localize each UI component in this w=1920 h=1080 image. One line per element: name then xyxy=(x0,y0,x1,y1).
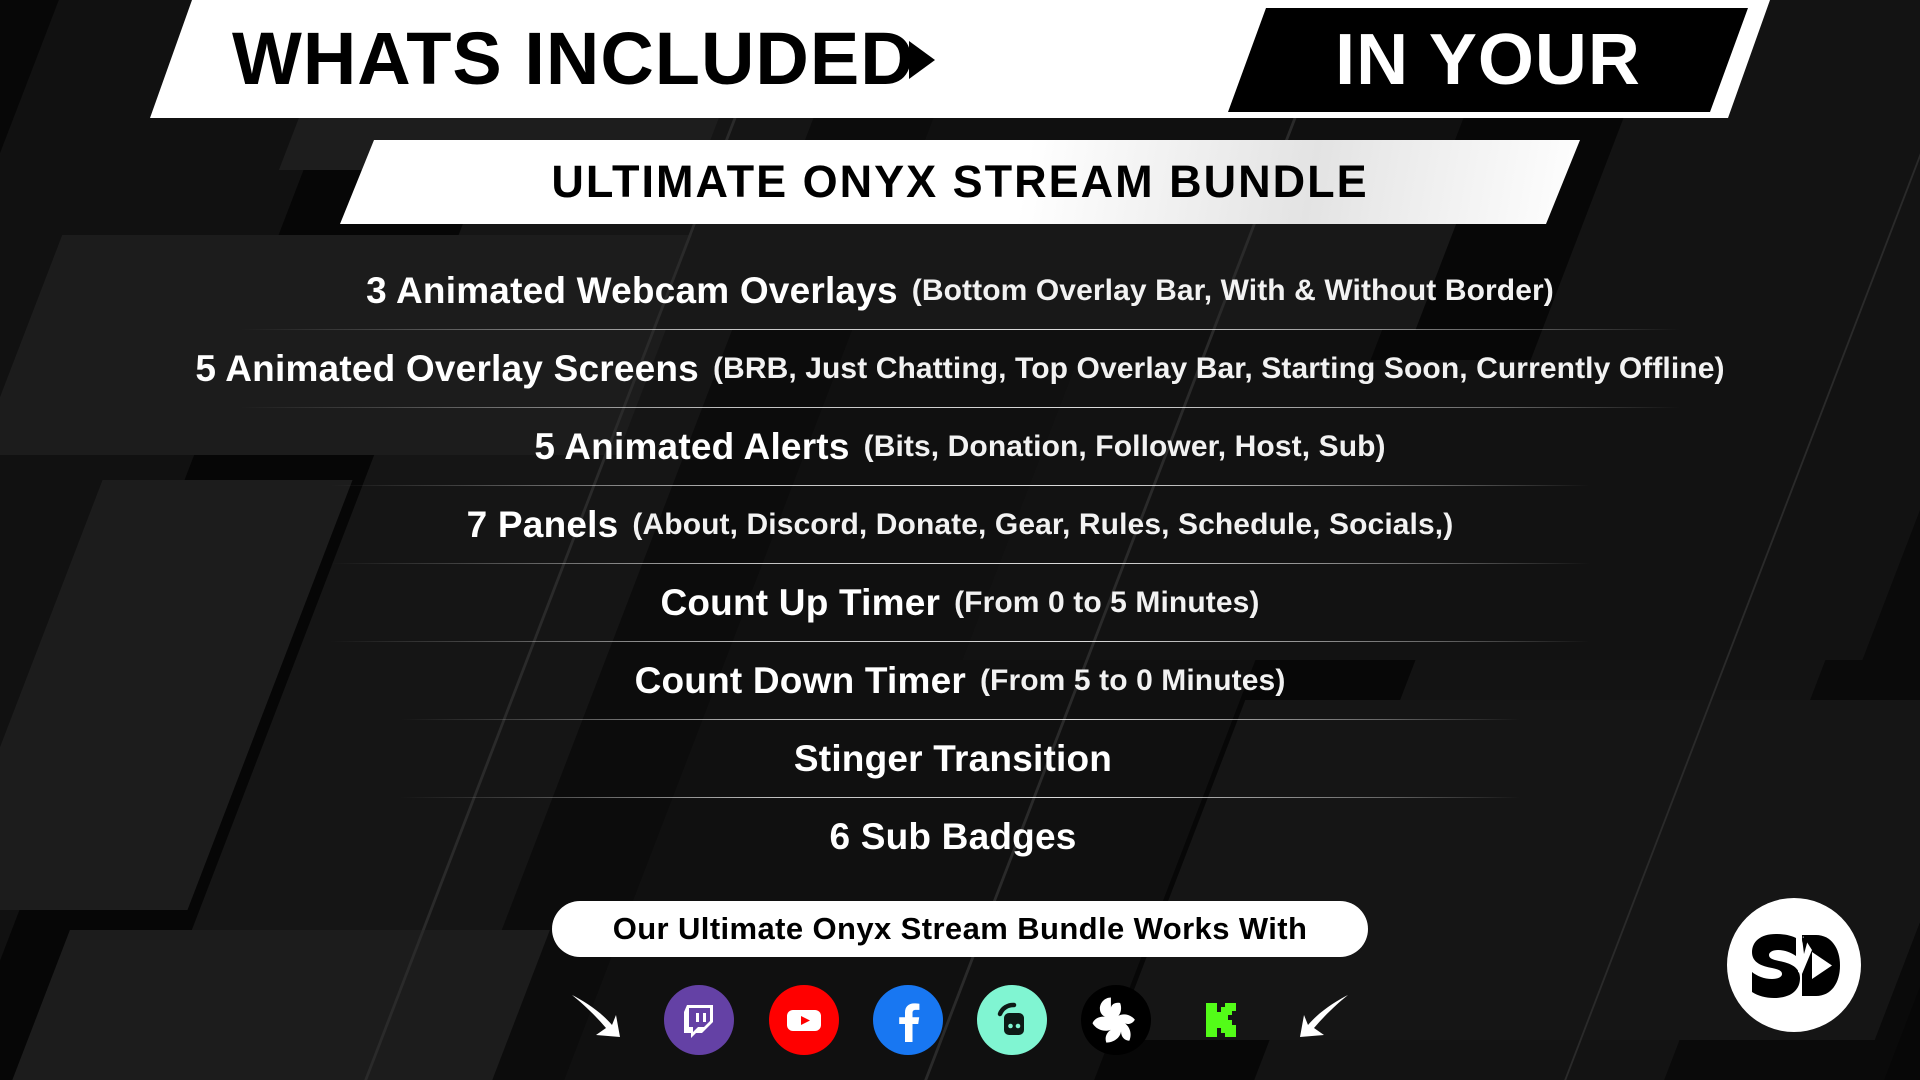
youtube-icon[interactable] xyxy=(769,985,839,1055)
list-item: Count Up Timer (From 0 to 5 Minutes) xyxy=(0,564,1920,641)
header-title-text: WHATS INCLUDED xyxy=(232,16,915,101)
works-with-label: Our Ultimate Onyx Stream Bundle Works Wi… xyxy=(613,911,1308,947)
list-item: 7 Panels (About, Discord, Donate, Gear, … xyxy=(0,486,1920,563)
feature-title: 5 Animated Alerts xyxy=(534,426,849,468)
feature-detail: (Bits, Donation, Follower, Host, Sub) xyxy=(864,430,1386,464)
sd-logo-mark xyxy=(1746,930,1842,1000)
feature-title: 6 Sub Badges xyxy=(829,816,1076,858)
sd-logo xyxy=(1727,898,1861,1032)
feature-detail: (From 5 to 0 Minutes) xyxy=(980,664,1285,698)
feature-detail: (Bottom Overlay Bar, With & Without Bord… xyxy=(912,274,1554,308)
header-banner: WHATS INCLUDED IN YOUR xyxy=(0,0,1920,120)
twitch-icon[interactable] xyxy=(664,985,734,1055)
feature-title: 5 Animated Overlay Screens xyxy=(195,348,699,390)
list-item: 3 Animated Webcam Overlays (Bottom Overl… xyxy=(0,252,1920,329)
list-item: Stinger Transition xyxy=(0,720,1920,797)
feature-title: 7 Panels xyxy=(467,504,619,546)
list-item: 5 Animated Overlay Screens (BRB, Just Ch… xyxy=(0,330,1920,407)
list-item: Count Down Timer (From 5 to 0 Minutes) xyxy=(0,642,1920,719)
promo-graphic: WHATS INCLUDED IN YOUR ULTIMATE ONYX STR… xyxy=(0,0,1920,1080)
obs-icon[interactable] xyxy=(1081,985,1151,1055)
feature-detail: (From 0 to 5 Minutes) xyxy=(954,586,1259,620)
subtitle-text: ULTIMATE ONYX STREAM BUNDLE xyxy=(340,140,1580,224)
list-item: 5 Animated Alerts (Bits, Donation, Follo… xyxy=(0,408,1920,485)
streamlabs-icon[interactable] xyxy=(977,985,1047,1055)
header-title-primary: WHATS INCLUDED xyxy=(232,6,1232,110)
play-triangle-icon xyxy=(909,41,935,79)
arrow-left-icon xyxy=(1290,985,1360,1055)
feature-detail: (About, Discord, Donate, Gear, Rules, Sc… xyxy=(632,508,1453,542)
works-with-badge: Our Ultimate Onyx Stream Bundle Works Wi… xyxy=(552,901,1368,957)
arrow-right-icon xyxy=(560,985,630,1055)
platform-icon-row xyxy=(560,975,1360,1065)
feature-title: Count Up Timer xyxy=(660,582,940,624)
feature-title: 3 Animated Webcam Overlays xyxy=(366,270,898,312)
kick-icon[interactable] xyxy=(1186,985,1256,1055)
header-title-secondary: IN YOUR xyxy=(1228,8,1748,112)
feature-list: 3 Animated Webcam Overlays (Bottom Overl… xyxy=(0,252,1920,875)
feature-title: Stinger Transition xyxy=(794,738,1112,780)
feature-detail: (BRB, Just Chatting, Top Overlay Bar, St… xyxy=(713,352,1725,386)
feature-title: Count Down Timer xyxy=(635,660,966,702)
facebook-icon[interactable] xyxy=(873,985,943,1055)
list-item: 6 Sub Badges xyxy=(0,798,1920,875)
